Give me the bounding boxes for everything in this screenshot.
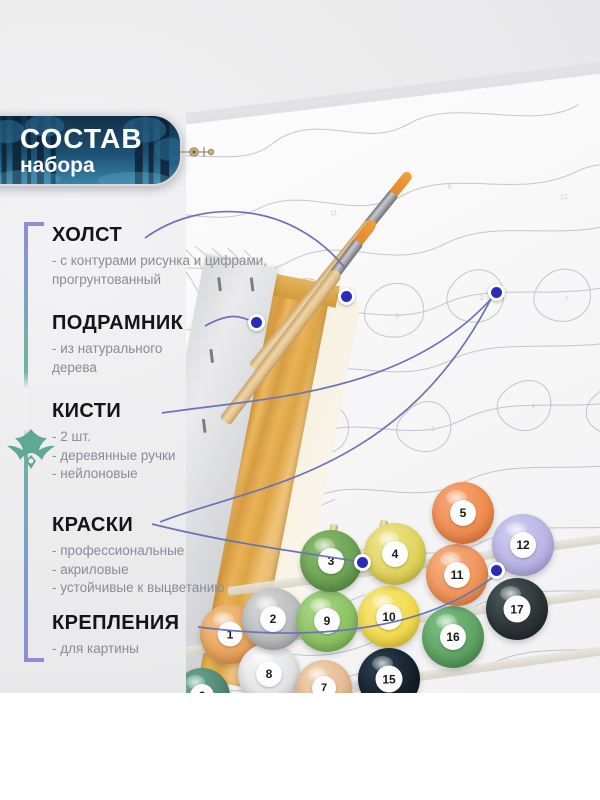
paint-pot: 9 [296, 590, 358, 652]
callout-dot-holst[interactable] [338, 288, 355, 305]
paint-pot: 17 [486, 578, 548, 640]
section-kraski: КРАСКИ - профессиональные - акриловые - … [52, 514, 224, 598]
bracket-cap-top [24, 222, 44, 226]
section-line: прогрунтованный [52, 271, 267, 290]
badge-text: СОСТАВ набора [20, 124, 143, 178]
section-line: дерева [52, 359, 183, 378]
badge-subtitle: набора [20, 154, 143, 178]
bottom-whitespace [0, 693, 600, 800]
svg-text:1: 1 [431, 426, 436, 433]
ornament-finial-icon [178, 141, 216, 163]
pot-number: 7 [312, 676, 336, 693]
section-holst: ХОЛСТ - с контурами рисунка и цифрами, п… [52, 224, 267, 289]
svg-text:7: 7 [564, 296, 569, 303]
svg-text:8: 8 [448, 184, 453, 191]
callout-dot-podramnik[interactable] [248, 314, 265, 331]
section-line: - из натурального [52, 340, 183, 359]
paint-pot: 5 [432, 482, 494, 544]
section-podramnik: ПОДРАМНИК - из натурального дерева [52, 312, 183, 377]
paint-pot: 2 [242, 588, 304, 650]
section-title: КРЕПЛЕНИЯ [52, 612, 179, 634]
section-title: ПОДРАМНИК [52, 312, 183, 334]
section-line: - устойчивые к выцветанию [52, 579, 224, 598]
pot-number: 5 [450, 500, 476, 526]
header-badge: СОСТАВ набора [0, 114, 182, 186]
section-line: - нейлоновые [52, 465, 175, 484]
section-line: - с контурами рисунка и цифрами, [52, 252, 267, 271]
callout-dot-kisti[interactable] [488, 284, 505, 301]
pot-number: 2 [260, 606, 286, 632]
paint-pot: 10 [358, 586, 420, 648]
pot-number: 4 [382, 541, 408, 567]
section-line: - акриловые [52, 561, 224, 580]
section-line: - деревянные ручки [52, 447, 175, 466]
bracket-cap-bottom [24, 658, 44, 662]
paint-pot: 16 [422, 606, 484, 668]
section-title: ХОЛСТ [52, 224, 267, 246]
pot-number: 10 [376, 604, 402, 630]
pot-number: 1 [218, 622, 243, 647]
pot-number: 8 [256, 661, 282, 687]
paint-pot: 4 [364, 523, 426, 585]
callout-dot-kraski[interactable] [354, 554, 371, 571]
svg-text:4: 4 [531, 403, 536, 410]
paint-pot: 3 [300, 530, 362, 592]
paint-pot: 11 [426, 544, 488, 606]
pot-number: 11 [444, 562, 470, 588]
product-photo: 35 27 91 46 118 1210 1516 [186, 0, 600, 693]
staple [202, 419, 207, 433]
section-kisti: КИСТИ - 2 шт. - деревянные ручки - нейло… [52, 400, 175, 484]
badge-title: СОСТАВ [20, 124, 143, 154]
product-infographic: 35 27 91 46 118 1210 1516 [0, 0, 600, 800]
svg-text:12: 12 [560, 194, 569, 202]
pot-number: 16 [440, 624, 466, 650]
section-title: КИСТИ [52, 400, 175, 422]
svg-text:5: 5 [395, 313, 400, 320]
section-line: - профессиональные [52, 542, 224, 561]
staple [209, 349, 214, 363]
section-line: - 2 шт. [52, 428, 175, 447]
pot-number: 15 [376, 666, 403, 693]
pot-number: 3 [318, 548, 344, 574]
content-panel: 35 27 91 46 118 1210 1516 [0, 0, 600, 693]
section-title: КРАСКИ [52, 514, 224, 536]
pot-number: 12 [510, 532, 536, 558]
callout-dot-krepleniya[interactable] [488, 562, 505, 579]
svg-text:11: 11 [330, 210, 338, 218]
pot-number: 9 [314, 608, 340, 634]
section-krepleniya: КРЕПЛЕНИЯ - для картины [52, 612, 179, 659]
section-line: - для картины [52, 640, 179, 659]
svg-text:2: 2 [479, 295, 484, 302]
pot-number: 17 [504, 596, 531, 623]
